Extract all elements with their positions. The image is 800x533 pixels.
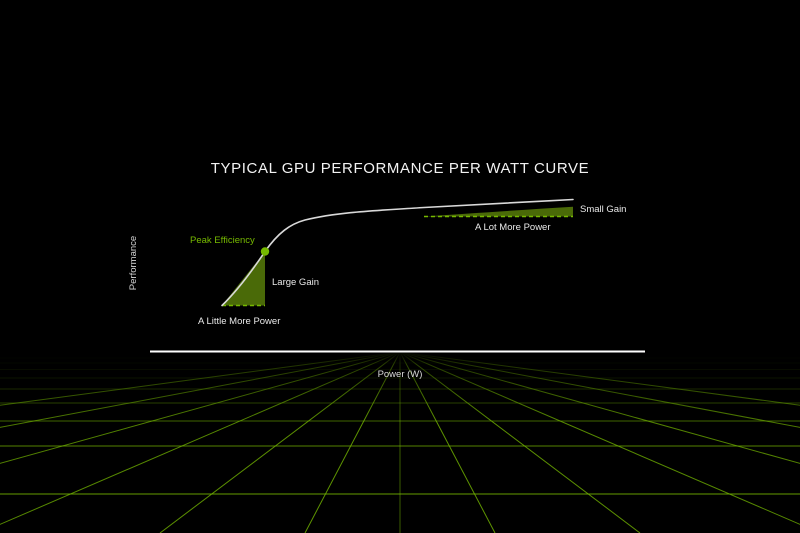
lot-more-power-wedge (424, 207, 573, 217)
annotation-a-little-more-power: A Little More Power (198, 316, 280, 327)
annotation-peak-efficiency: Peak Efficiency (190, 235, 255, 246)
annotation-small-gain: Small Gain (580, 204, 626, 215)
y-axis-label: Performance (128, 236, 139, 290)
page-title: TYPICAL GPU PERFORMANCE PER WATT CURVE (211, 160, 589, 177)
slide-canvas: TYPICAL GPU PERFORMANCE PER WATT CURVE P… (0, 0, 800, 533)
annotation-a-lot-more-power: A Lot More Power (475, 222, 551, 233)
peak-efficiency-point (261, 247, 269, 255)
x-axis-label: Power (W) (378, 369, 423, 380)
annotation-large-gain: Large Gain (272, 277, 319, 288)
performance-per-watt-chart: TYPICAL GPU PERFORMANCE PER WATT CURVE P… (0, 0, 800, 533)
